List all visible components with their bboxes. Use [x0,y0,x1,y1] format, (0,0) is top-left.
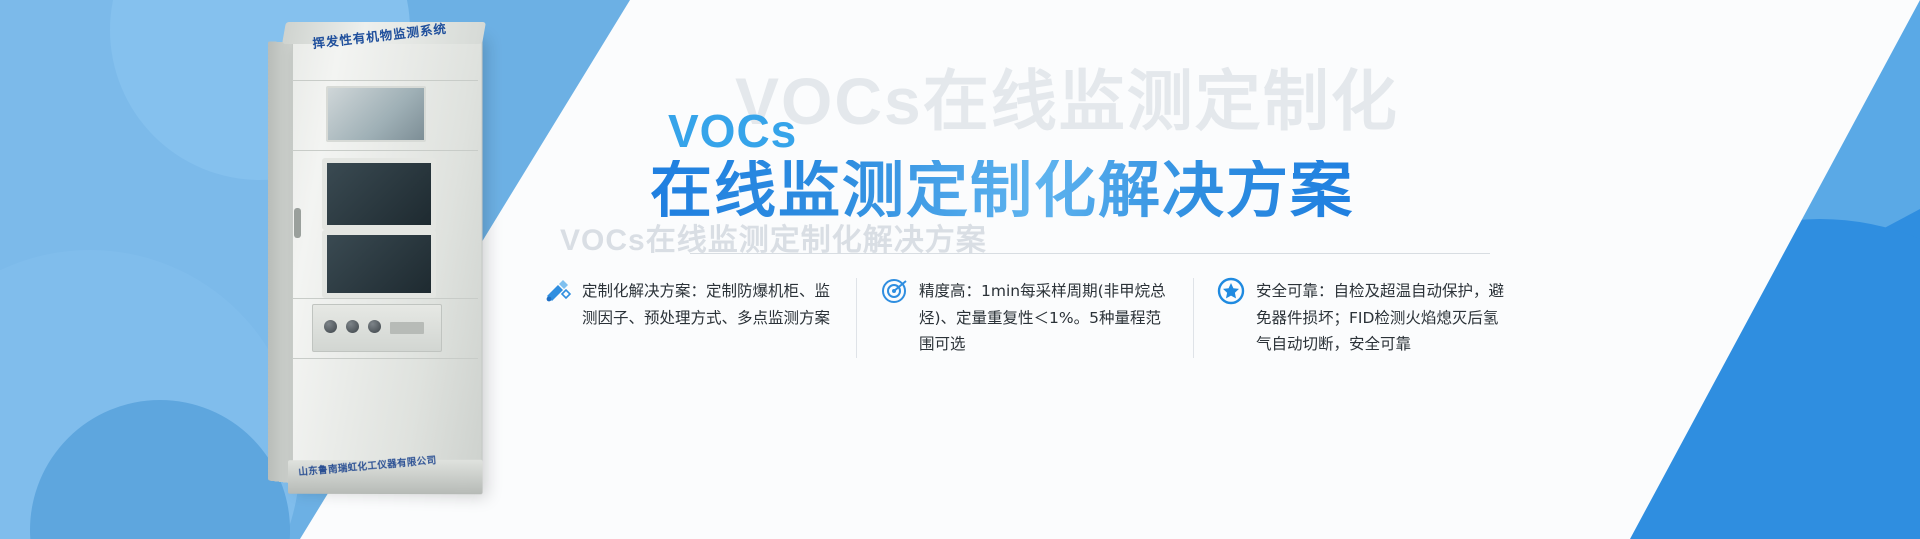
feature-item: 安全可靠：自检及超温自动保护，避免器件损坏；FID检测火焰熄灭后氢气自动切断，安… [1193,278,1530,358]
equipment-photo: 挥发性有机物监测系统 山东鲁南瑞虹化工仪器有限公司 [268,8,498,518]
cabinet-seam [292,358,478,359]
cabinet-side-panel [268,41,294,483]
feature-list: 定制化解决方案：定制防爆机柜、监测因子、预处理方式、多点监测方案 精度高：1mi… [520,278,1530,388]
cabinet-seam [292,298,478,299]
target-icon [879,276,909,306]
headline-block: VOCs 在线监测定制化解决方案 [650,108,1354,222]
feature-text: 安全可靠：自检及超温自动保护，避免器件损坏；FID检测火焰熄灭后氢气自动切断，安… [1256,278,1508,358]
feature-text: 定制化解决方案：定制防爆机柜、监测因子、预处理方式、多点监测方案 [582,278,834,331]
cabinet-knob [368,320,381,333]
feature-item: 定制化解决方案：定制防爆机柜、监测因子、预处理方式、多点监测方案 [520,278,856,331]
cabinet-vent-slot [390,322,424,334]
page-title: 在线监测定制化解决方案 [650,160,1354,222]
cabinet-display-lower [322,230,436,298]
cabinet-knob [346,320,359,333]
headline-eyebrow: VOCs [668,108,1354,154]
cabinet-seam [292,80,478,81]
cabinet-door-handle [294,208,301,238]
cabinet-display-upper [322,158,436,230]
vocs-promo-banner: VOCs在线监测定制化 VOCs在线监测定制化解决方案 VOCs 在线监测定制化… [0,0,1920,539]
cabinet-knob [324,320,337,333]
divider [690,253,1490,254]
tools-icon [542,276,572,306]
feature-item: 精度高：1min每采样周期(非甲烷总烃)、定量重复性＜1%。5种量程范围可选 [856,278,1193,358]
cabinet-seam [292,150,478,151]
feature-text: 精度高：1min每采样周期(非甲烷总烃)、定量重复性＜1%。5种量程范围可选 [919,278,1171,358]
cabinet-window [326,86,426,142]
shield-star-icon [1216,276,1246,306]
